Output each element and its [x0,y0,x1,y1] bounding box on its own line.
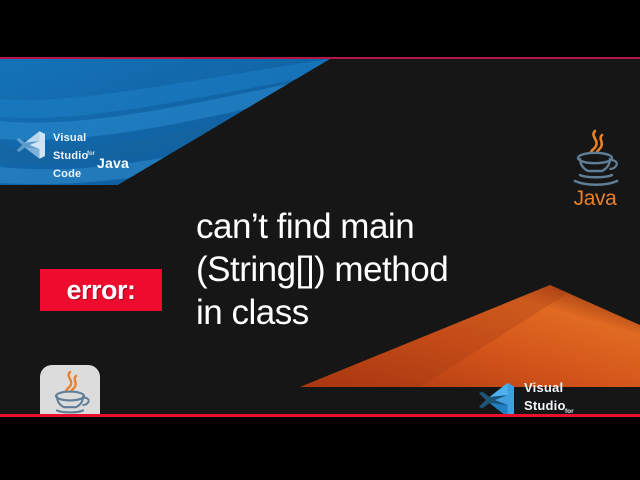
vscode-word-java: Java [97,155,129,171]
headline-line-1: can’t find main [196,205,596,248]
vscode-word-studio: Studio [524,398,566,413]
vscode-word-visual: Visual [53,132,86,144]
java-cup-icon [568,127,622,189]
vscode-word-for: for [87,151,95,157]
vscode-java-logo-bottom-right: Visual Studio Code for Java [476,379,566,417]
headline-line-2: (String[]) method [196,248,596,291]
video-frame: Visual Studio Code for Java Java [0,0,640,480]
headline: can’t find main (String[]) method in cla… [196,205,596,334]
vscode-java-logo-top-left: Visual Studio Code for Java [14,128,88,182]
slide-canvas: Visual Studio Code for Java Java [0,57,640,417]
top-accent-rule [0,57,640,59]
vscode-wordmark-bottom-right: Visual Studio Code for Java [524,379,566,417]
headline-line-3: in class [196,291,596,334]
bottom-accent-rule [0,414,640,417]
java-app-icon-bottom-left [40,365,100,417]
vscode-word-studio: Studio [53,150,88,162]
error-badge: error: [40,269,162,311]
vscode-word-visual: Visual [524,380,563,395]
java-logo-top-right: Java [562,127,628,213]
vscode-icon [14,128,48,162]
java-cup-icon [47,369,93,417]
vscode-icon [476,379,518,417]
error-badge-label: error: [66,275,135,306]
vscode-word-code: Code [53,168,81,180]
vscode-wordmark-top-left: Visual Studio Code for Java [53,128,88,182]
